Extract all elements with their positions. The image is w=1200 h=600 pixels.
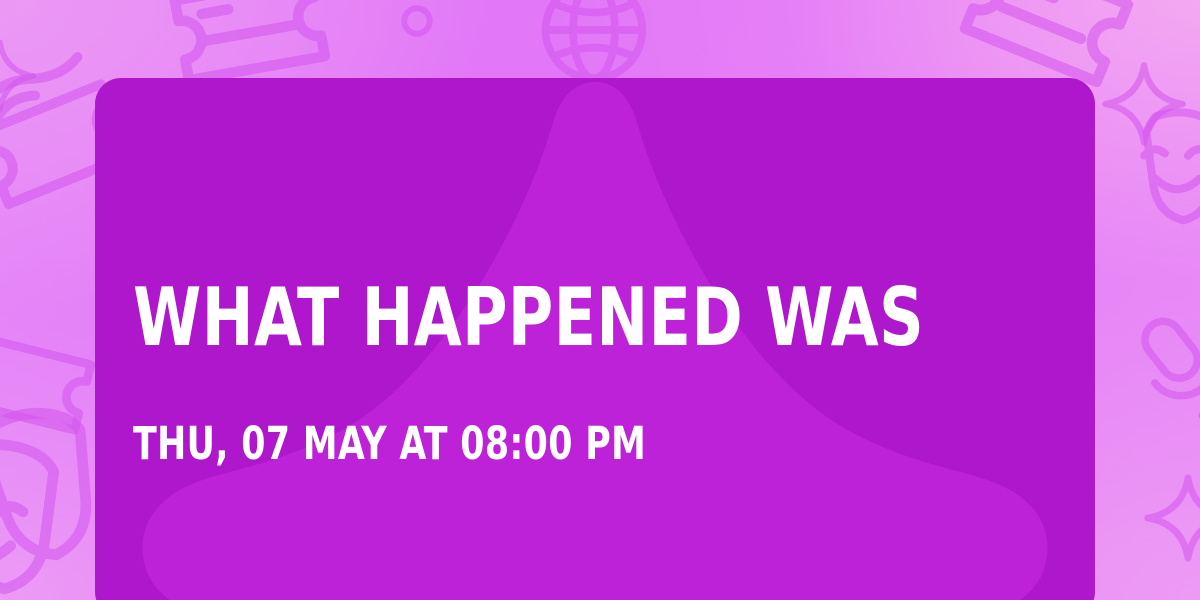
event-datetime: THU, 07 MAY AT 08:00 PM: [133, 418, 646, 470]
card-text-block: WHAT HAPPENED WAS THU, 07 MAY AT 08:00 P…: [133, 78, 1057, 600]
event-title: WHAT HAPPENED WAS: [133, 274, 924, 362]
event-card: WHAT HAPPENED WAS THU, 07 MAY AT 08:00 P…: [95, 78, 1095, 600]
event-poster: WHAT HAPPENED WAS THU, 07 MAY AT 08:00 P…: [0, 0, 1200, 600]
